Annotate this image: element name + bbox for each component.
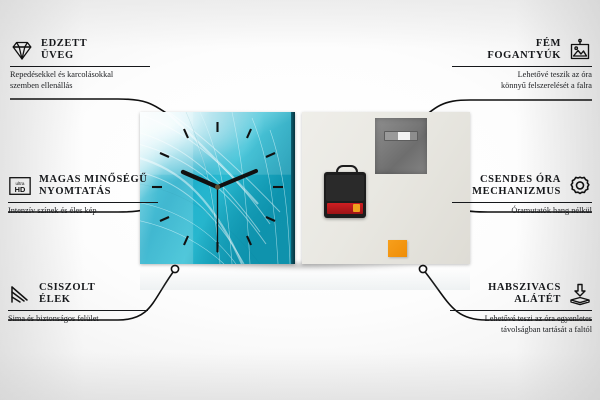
divider [8,310,148,311]
divider [10,66,150,67]
feature-title: CSENDES ÓRA MECHANIZMUS [472,174,561,199]
feature-title: CSISZOLT ÉLEK [39,282,95,307]
callout-quiet-mechanism: CSENDES ÓRA MECHANIZMUS Óramutatók hang … [452,174,592,217]
infographic-stage: EDZETT ÜVEG Repedésekkel és karcolásokka… [0,0,600,400]
feature-subtitle: Sima és biztonságos felület [8,314,148,325]
divider [450,310,592,311]
callout-high-quality-print: ultra HD MAGAS MINŐSÉGŰ NYOMTATÁS Intenz… [8,174,158,217]
feature-subtitle: Óramutatók hang nélkül [452,206,592,217]
foam-pad-icon [568,282,592,306]
clock-mechanism [324,172,366,218]
feature-subtitle: Lehetővé teszi az óra egyenletes távolsá… [450,314,592,336]
callout-polished-edges: CSISZOLT ÉLEK Sima és biztonságos felüle… [8,282,148,325]
gear-icon [568,174,592,198]
metal-hanger-plate [375,118,427,174]
feature-subtitle: Repedésekkel és karcolásokkal szemben el… [10,70,150,92]
glass-edge [291,112,295,264]
callout-tempered-glass: EDZETT ÜVEG Repedésekkel és karcolásokka… [10,38,150,91]
feature-subtitle: Intenzív színek és éles kép [8,206,158,217]
clock-front-panel [140,112,295,264]
ultra-hd-icon: ultra HD [8,174,32,198]
picture-hanger-icon [568,38,592,62]
feature-title: EDZETT ÜVEG [41,38,87,63]
divider [452,202,592,203]
svg-text:HD: HD [15,185,26,194]
divider [8,202,158,203]
battery [327,203,363,214]
feature-subtitle: Lehetővé teszik az óra könnyű felszerelé… [452,70,592,92]
product-reflection [140,264,470,290]
divider [452,66,592,67]
clock-back-panel [302,112,470,264]
feature-title: FÉM FOGANTYÚK [487,38,561,63]
product-image [140,112,470,264]
callout-foam-pad: HABSZIVACS ALÁTÉT Lehetővé teszi az óra … [450,282,592,335]
clock-dial [140,112,295,264]
feature-title: HABSZIVACS ALÁTÉT [488,282,561,307]
polished-edges-icon [8,282,32,306]
foam-pad [388,240,407,257]
mechanism-body [326,175,364,201]
diamond-icon [10,38,34,62]
feature-title: MAGAS MINŐSÉGŰ NYOMTATÁS [39,174,147,199]
callout-metal-handles: FÉM FOGANTYÚK Lehetővé teszik az óra kön… [452,38,592,91]
hanger-keyhole-slot [384,131,418,141]
